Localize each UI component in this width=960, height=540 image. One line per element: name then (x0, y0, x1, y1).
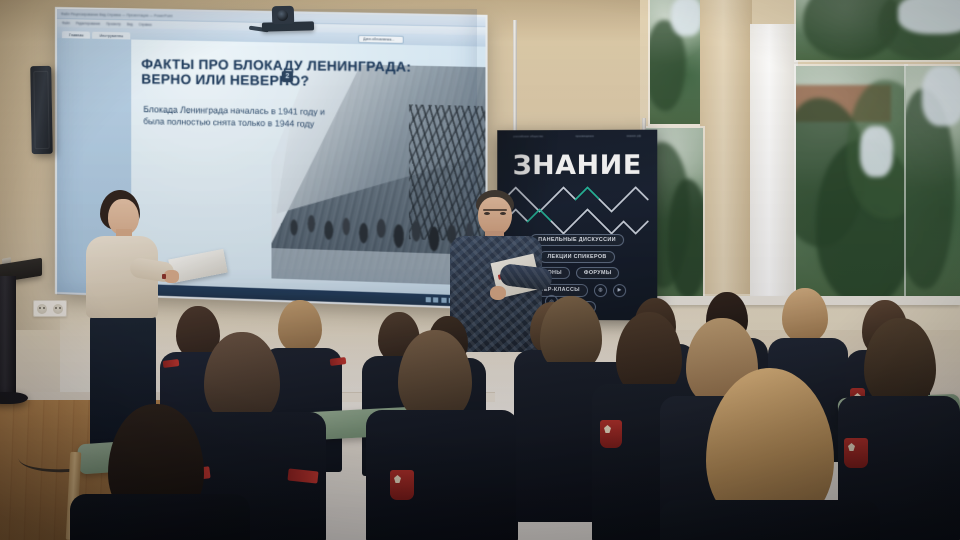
window-far-right (906, 66, 960, 298)
banner-chip-forums: ФОРУМЫ (576, 267, 620, 279)
banner-pole-left (513, 20, 517, 132)
camera-lens-icon (277, 10, 288, 21)
window-main-right (796, 66, 906, 298)
volume-icon[interactable] (433, 297, 438, 302)
menu-item-help[interactable]: Справка (139, 23, 152, 27)
banner-top-label-1: российское общество (513, 135, 543, 138)
banner-top-label-3: знание.рф (626, 135, 641, 138)
woman-bracelet (162, 274, 166, 279)
app-titlebar-text: Файл Рецензирование Вид Справка — Презен… (61, 12, 173, 18)
menu-item-view[interactable]: Просмотр (106, 22, 121, 26)
play-icon: ▶ (613, 284, 626, 297)
woman-hand (164, 270, 179, 283)
window-far-left (650, 0, 702, 124)
classroom-photo-scene: Файл Рецензирование Вид Справка — Презен… (0, 0, 960, 540)
wall-speaker (30, 66, 53, 154)
lectern-column (0, 276, 16, 400)
banner-top-label-2: просвещение (576, 135, 594, 138)
banner-logo-text: ЗНАНИЕ (497, 150, 657, 181)
wall-power-outlet (33, 300, 67, 317)
network-icon[interactable] (425, 297, 430, 302)
officer-face (478, 197, 512, 235)
wall-pillar (700, 0, 752, 294)
battery-icon[interactable] (441, 298, 446, 303)
window-mullion-pillar (750, 24, 798, 300)
officer-hand (490, 286, 506, 300)
slide-title: ФАКТЫ ПРО БЛОКАДУ ЛЕНИНГРАДА: ВЕРНО ИЛИ … (141, 56, 449, 90)
banner-top-labels: российское общество просвещение знание.р… (497, 133, 657, 141)
ribbon-dropdown[interactable]: Дата обновления... (358, 35, 404, 44)
slide-number-badge: 2 (282, 71, 293, 82)
officer-eye-left (484, 212, 490, 215)
window-top-right (796, 0, 960, 60)
menu-item-layout[interactable]: Вид (127, 22, 133, 26)
globe-icon: ◍ (594, 284, 607, 297)
officer-brow (483, 209, 507, 211)
officer-eye-right (500, 212, 506, 215)
menu-item-file[interactable]: Файл (62, 21, 70, 25)
menu-item-edit[interactable]: Редактирование (76, 21, 100, 25)
slide-body-text: Блокада Ленинграда началась в 1941 году … (143, 103, 332, 131)
